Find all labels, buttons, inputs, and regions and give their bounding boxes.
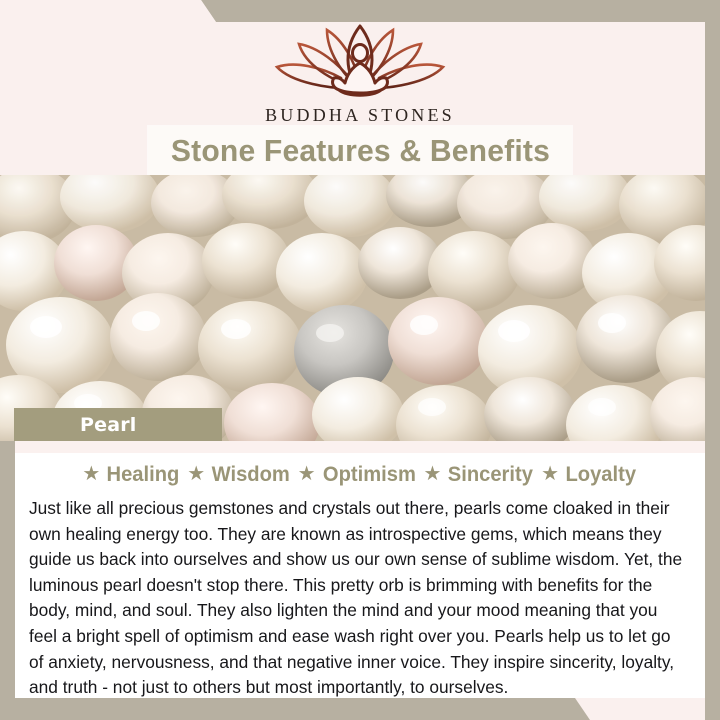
lotus-meditation-icon (269, 20, 451, 102)
stone-name: Pearl (80, 414, 137, 436)
keyword-item-sincerity: ★ Sincerity (423, 463, 535, 487)
star-icon: ★ (187, 464, 205, 484)
keyword-label: Healing (107, 463, 180, 487)
decorative-band-left (0, 440, 15, 720)
keyword-label: Sincerity (448, 463, 533, 487)
decorative-band-right (705, 0, 720, 720)
keyword-item-healing: ★ Healing (82, 463, 181, 487)
keyword-item-loyalty: ★ Loyalty (541, 463, 637, 487)
keyword-label: Wisdom (212, 463, 290, 487)
keyword-item-wisdom: ★ Wisdom (187, 463, 291, 487)
page-title: Stone Features & Benefits (170, 133, 549, 169)
content-top-strip (15, 441, 705, 453)
pearl-pile-illustration (0, 175, 705, 441)
keyword-label: Loyalty (566, 463, 637, 487)
star-icon: ★ (298, 464, 316, 484)
hero-image (0, 175, 705, 441)
keyword-item-optimism: ★ Optimism (298, 463, 418, 487)
description-paragraph: Just like all precious gemstones and cry… (29, 496, 685, 701)
brand-name: BUDDHA STONES (0, 105, 720, 126)
star-icon: ★ (541, 464, 559, 484)
star-icon: ★ (423, 464, 441, 484)
keyword-label: Optimism (323, 463, 416, 487)
star-icon: ★ (82, 464, 100, 484)
decorative-band-bottom (0, 698, 720, 720)
infographic-page: BUDDHA STONES Stone Features & Benefits (0, 0, 720, 720)
brand-logo: BUDDHA STONES (0, 20, 720, 126)
title-card: Stone Features & Benefits (148, 126, 572, 176)
content-panel: ★ Healing ★ Wisdom ★ Optimism ★ Sincerit… (15, 441, 705, 698)
stone-name-band: Pearl (14, 408, 222, 441)
keyword-list: ★ Healing ★ Wisdom ★ Optimism ★ Sincerit… (15, 463, 705, 487)
